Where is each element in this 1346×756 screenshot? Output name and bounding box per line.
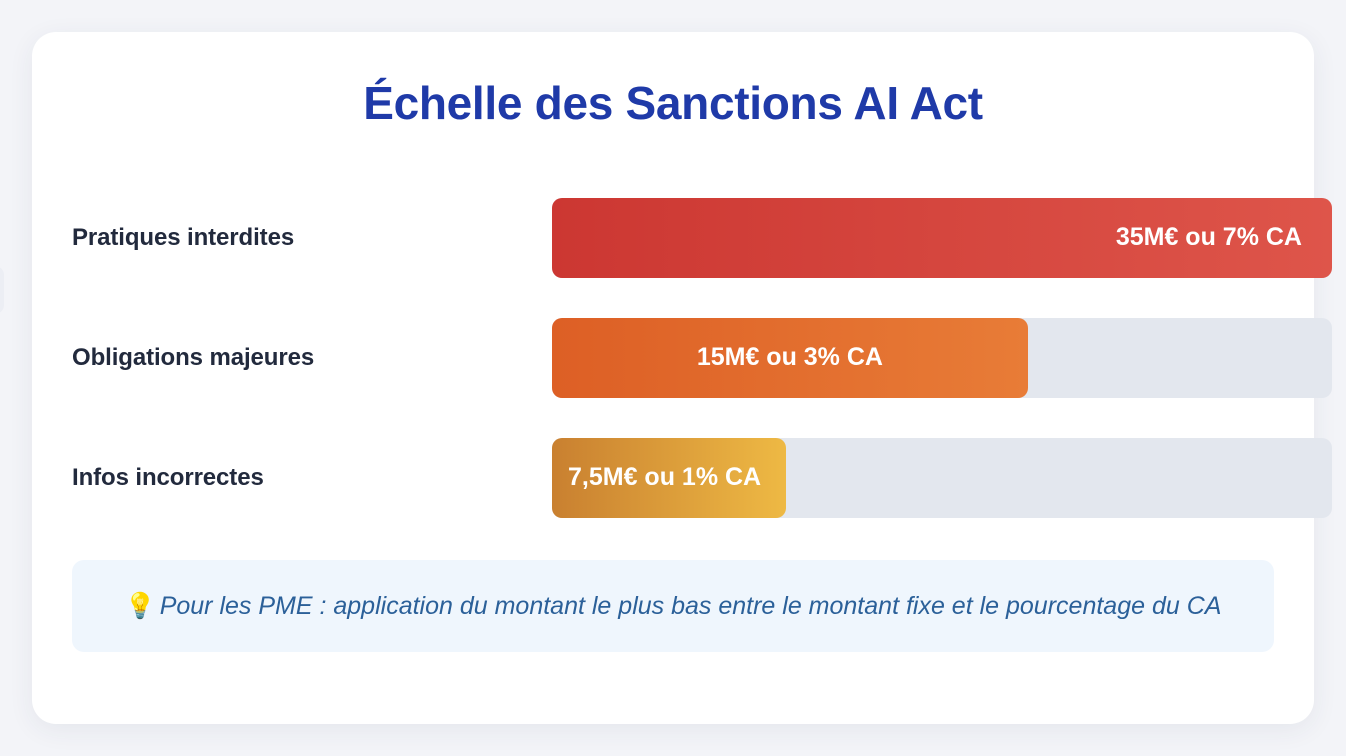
bar-fill-obligations-majeures: 15M€ ou 3% CA [552,318,1028,398]
left-edge-sliver [0,266,4,314]
sanctions-bar-chart: Pratiques interdites 35M€ ou 7% CA Oblig… [72,198,1274,558]
bar-fill-infos-incorrectes: 7,5M€ ou 1% CA [552,438,786,518]
bar-label-pratiques-interdites: Pratiques interdites [72,198,492,278]
bar-row-infos-incorrectes: Infos incorrectes 7,5M€ ou 1% CA [72,438,1274,518]
bar-row-pratiques-interdites: Pratiques interdites 35M€ ou 7% CA [72,198,1274,278]
bar-value-infos-incorrectes: 7,5M€ ou 1% CA [568,463,768,493]
page-title: Échelle des Sanctions AI Act [32,76,1314,130]
sme-note: 💡Pour les PME : application du montant l… [72,560,1274,652]
bar-label-obligations-majeures: Obligations majeures [72,318,492,398]
sme-note-text: Pour les PME : application du montant le… [160,592,1222,620]
bar-track-pratiques-interdites: 35M€ ou 7% CA [552,198,1332,278]
bar-value-obligations-majeures: 15M€ ou 3% CA [697,343,883,373]
bar-track-infos-incorrectes: 7,5M€ ou 1% CA [552,438,1332,518]
bar-row-obligations-majeures: Obligations majeures 15M€ ou 3% CA [72,318,1274,398]
lightbulb-icon: 💡 [125,592,156,620]
bar-track-obligations-majeures: 15M€ ou 3% CA [552,318,1332,398]
bar-value-pratiques-interdites: 35M€ ou 7% CA [1116,223,1302,253]
sanctions-scale-card: Échelle des Sanctions AI Act Pratiques i… [32,32,1314,724]
bar-fill-pratiques-interdites: 35M€ ou 7% CA [552,198,1332,278]
bar-label-infos-incorrectes: Infos incorrectes [72,438,492,518]
